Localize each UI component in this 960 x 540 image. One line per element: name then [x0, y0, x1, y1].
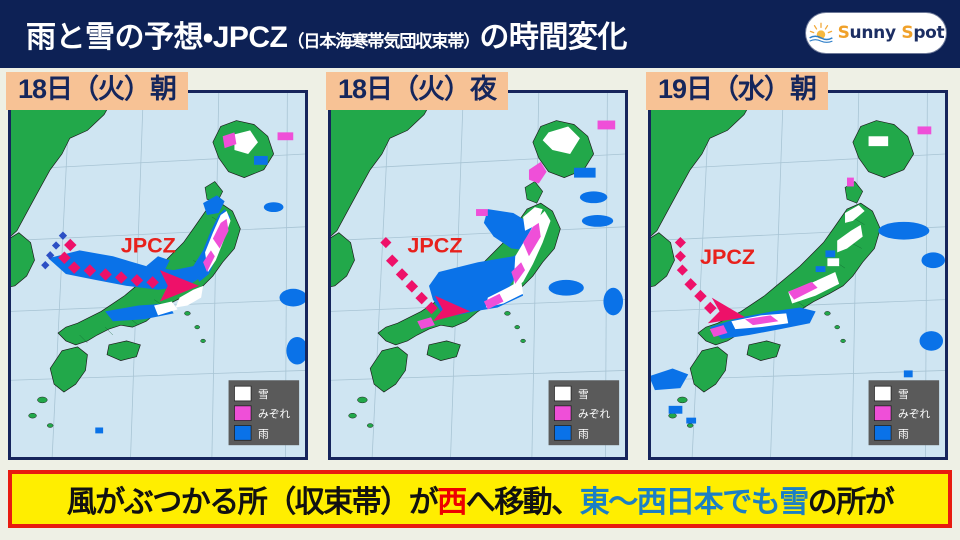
day-label-2: 18日（火）夜: [326, 72, 508, 110]
day-label-1: 18日（火）朝: [6, 72, 188, 110]
legend-label-snow: 雪: [258, 388, 269, 401]
caption-segment-west: 西: [437, 477, 466, 521]
legend-label-sleet: みぞれ: [578, 408, 611, 421]
rain-patch-offshore-1: [878, 222, 929, 240]
rain-patch-hokkaido-east: [254, 156, 268, 165]
forecast-panel-group: JPCZ 雪 みぞれ 雨: [0, 72, 960, 464]
legend-swatch-rain: [234, 426, 251, 441]
caption-segment-3: へ移動、: [466, 477, 580, 521]
page-title: 雨と雪の予想・JPCZ（日本海寒帯気団収束帯）の時間変化: [26, 12, 627, 56]
legend-swatch-rain: [874, 426, 891, 441]
legend-swatch-snow: [554, 386, 571, 401]
legend-label-snow: 雪: [898, 388, 909, 401]
rain-patch-offshore-2: [582, 215, 613, 227]
page-title-main: 雨と雪の予想・JPCZ: [26, 12, 287, 56]
sleet-patch-hokkaido-south: [847, 178, 854, 187]
caption-segment-5: の所が: [808, 477, 894, 521]
day-label-3: 19日（水）朝: [646, 72, 828, 110]
caption-segment-1: 風がぶつかる所（収束帯）が: [67, 477, 438, 521]
legend-1: 雪 みぞれ 雨: [229, 380, 300, 445]
rain-patch-south-1: [669, 406, 683, 414]
legend-swatch-snow: [234, 386, 251, 401]
legend-swatch-sleet: [554, 406, 571, 421]
sleet-patch-northeast: [918, 126, 932, 134]
forecast-panel-3[interactable]: JPCZ 雪 みぞれ 雨: [648, 90, 948, 460]
logo-text-pot: pot: [913, 23, 944, 43]
legend-label-rain: 雨: [898, 428, 909, 440]
legend-2: 雪 みぞれ 雨: [549, 380, 620, 445]
rain-patch-hokkaido-east: [574, 168, 596, 178]
summary-caption-bar: 風がぶつかる所（収束帯）が西へ移動、東～西日本でも雪の所が: [8, 470, 952, 528]
page-title-parenthetical: （日本海寒帯気団収束帯）: [287, 27, 479, 52]
legend-swatch-sleet: [874, 406, 891, 421]
sleet-patch-northeast: [278, 132, 294, 140]
rain-patch-tohoku: [825, 250, 835, 257]
rain-patch-offshore-4: [603, 288, 623, 316]
legend-label-sleet: みぞれ: [898, 408, 931, 421]
sunrise-wave-icon: [808, 22, 834, 44]
jpcz-label-2: JPCZ: [407, 232, 462, 257]
legend-swatch-snow: [874, 386, 891, 401]
weather-map-2: JPCZ 雪 みぞれ 雨: [331, 93, 625, 457]
rain-patch-offshore-1: [264, 202, 284, 212]
snow-patch-hokkaido: [869, 136, 889, 146]
sleet-patch-northeast: [598, 121, 616, 130]
sleet-patch-sea: [476, 209, 488, 216]
forecast-panel-1[interactable]: JPCZ 雪 みぞれ 雨: [8, 90, 308, 460]
rain-patch-offshore-3: [920, 331, 944, 351]
legend-label-sleet: みぞれ: [258, 408, 291, 421]
jpcz-label-3: JPCZ: [700, 244, 755, 269]
rain-patch-offshore-2: [921, 252, 945, 268]
legend-swatch-sleet: [234, 406, 251, 421]
logo-text: Sunny Spot: [838, 23, 945, 43]
rain-patch-south-2: [686, 418, 696, 424]
summary-caption-text: 風がぶつかる所（収束帯）が西へ移動、東～西日本でも雪の所が: [67, 477, 894, 521]
caption-segment-snow-region: 東～西日本でも雪: [580, 477, 808, 521]
legend-3: 雪 みぞれ 雨: [869, 380, 940, 445]
jpcz-label-1: JPCZ: [121, 232, 176, 257]
title-bar: 雨と雪の予想・JPCZ（日本海寒帯気団収束帯）の時間変化 Sunny Spot: [0, 0, 960, 68]
logo-text-unny: unny: [850, 23, 902, 43]
rain-patch-offshore-1: [580, 191, 607, 203]
rain-patch-inland: [816, 266, 826, 272]
sunny-spot-logo[interactable]: Sunny Spot: [806, 13, 946, 53]
legend-swatch-rain: [554, 426, 571, 441]
weather-map-3: JPCZ 雪 みぞれ 雨: [651, 93, 945, 457]
legend-label-rain: 雨: [578, 428, 589, 440]
rain-patch-pacific: [904, 370, 913, 377]
weather-map-1: JPCZ 雪 みぞれ 雨: [11, 93, 305, 457]
logo-text-s2: S: [901, 23, 913, 43]
logo-text-s1: S: [838, 23, 850, 43]
forecast-panel-2[interactable]: JPCZ 雪 みぞれ 雨: [328, 90, 628, 460]
legend-label-snow: 雪: [578, 388, 589, 401]
rain-patch-offshore-3: [549, 280, 584, 296]
legend-label-rain: 雨: [258, 428, 269, 440]
rain-patch-south: [95, 427, 103, 433]
snow-patch-inland: [827, 258, 839, 266]
page-title-tail: の時間変化: [479, 12, 627, 56]
